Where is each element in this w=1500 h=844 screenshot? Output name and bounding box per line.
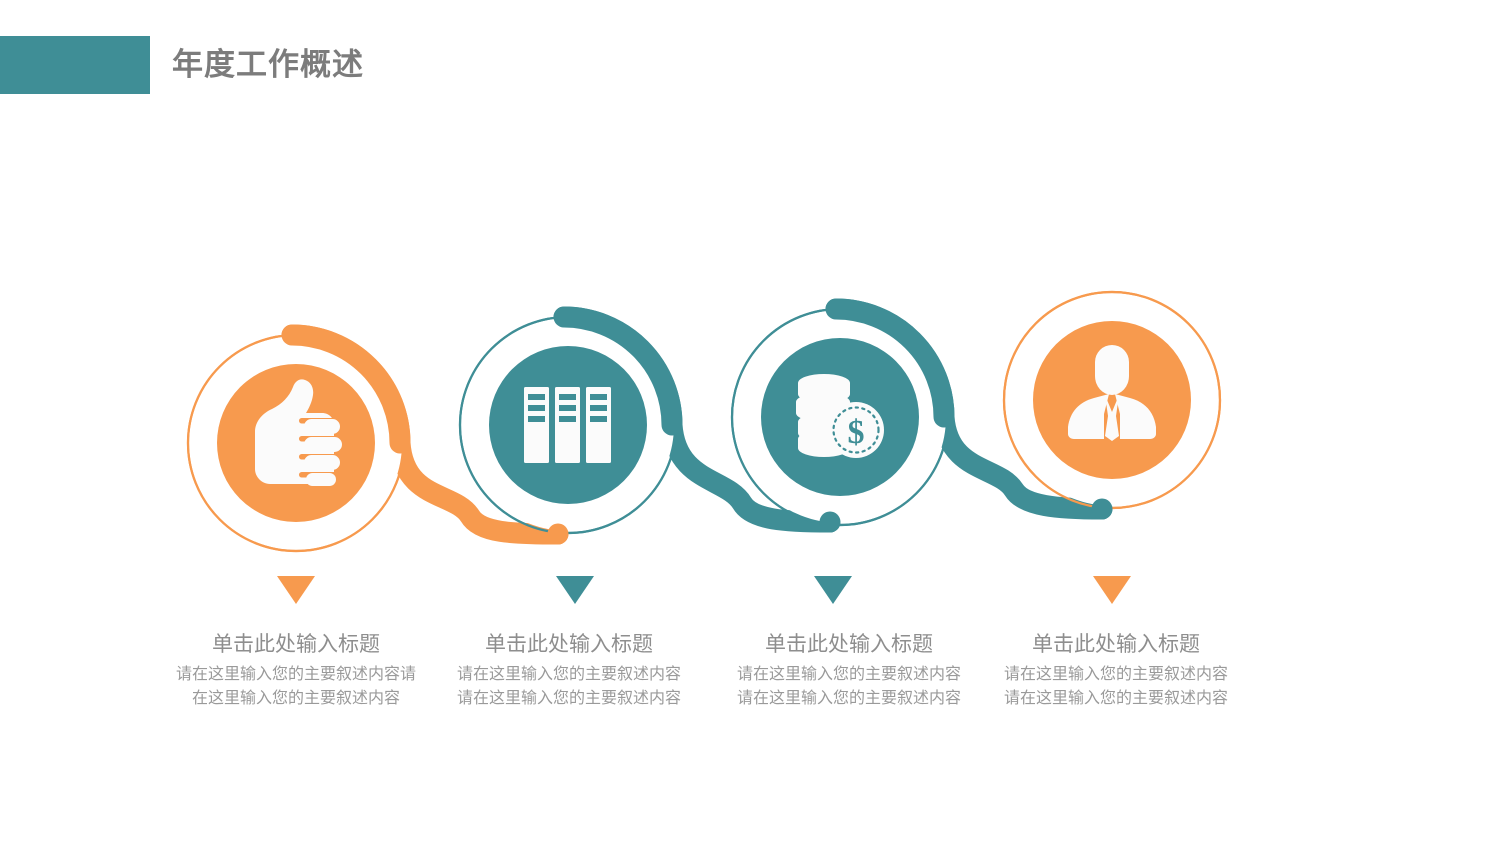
slide-header: 年度工作概述 (0, 36, 1500, 94)
page-title: 年度工作概述 (172, 36, 364, 94)
caption-body-3: 请在这里输入您的主要叙述内容请在这里输入您的主要叙述内容 (735, 663, 963, 711)
outer-ring-2-top (460, 317, 676, 533)
outer-ring-4 (1004, 292, 1220, 508)
connector-ribbon-2-3 (564, 317, 830, 522)
ribbon-endcap-1-2 (548, 524, 569, 545)
ring-gap-2 (475, 332, 661, 518)
step-circle-1[interactable] (217, 364, 375, 522)
caption-title-4: 单击此处输入标题 (1000, 630, 1232, 660)
caption-body-2: 请在这里输入您的主要叙述内容请在这里输入您的主要叙述内容 (455, 663, 683, 711)
step-circle-4[interactable] (1033, 321, 1191, 479)
caption-block-1[interactable]: 单击此处输入标题 请在这里输入您的主要叙述内容请在这里输入您的主要叙述内容 (176, 630, 416, 711)
triangle-down-marker-3 (814, 576, 852, 604)
ribbon-endcap-3-4 (1092, 499, 1113, 520)
header-accent-bar (0, 36, 150, 94)
thumbs-up-icon (255, 379, 342, 486)
connector-ribbon-1-2 (292, 335, 558, 534)
step-circle-2[interactable] (489, 346, 647, 504)
caption-body-1: 请在这里输入您的主要叙述内容请在这里输入您的主要叙述内容 (176, 663, 416, 711)
outer-ring-2 (460, 317, 676, 533)
ring-gap-3 (747, 324, 933, 510)
caption-title-3: 单击此处输入标题 (735, 630, 963, 660)
outer-ring-1 (188, 335, 404, 551)
caption-block-4[interactable]: 单击此处输入标题 请在这里输入您的主要叙述内容请在这里输入您的主要叙述内容 (1000, 630, 1232, 711)
triangle-down-marker-2 (556, 576, 594, 604)
outer-ring-3 (732, 309, 948, 525)
caption-title-1: 单击此处输入标题 (176, 630, 416, 660)
ribbon-endcap-2-3 (820, 512, 841, 533)
svg-text:$: $ (848, 414, 865, 451)
caption-body-4: 请在这里输入您的主要叙述内容请在这里输入您的主要叙述内容 (1000, 663, 1232, 711)
triangle-down-marker-4 (1093, 576, 1131, 604)
caption-title-2: 单击此处输入标题 (455, 630, 683, 660)
businessman-icon (1068, 345, 1156, 441)
ring-gap-1 (203, 350, 389, 536)
ribbon-arc-2 (564, 317, 672, 425)
connector-ribbon-3-4 (836, 309, 1102, 509)
step-circle-3[interactable] (761, 338, 919, 496)
ring-gap-4 (1019, 307, 1205, 493)
outer-ring-1-top (188, 335, 404, 551)
outer-ring-4-top (1004, 292, 1220, 508)
ribbon-arc-1 (292, 335, 400, 443)
caption-block-2[interactable]: 单击此处输入标题 请在这里输入您的主要叙述内容请在这里输入您的主要叙述内容 (455, 630, 683, 711)
book-binders-icon (524, 387, 611, 463)
triangle-down-marker-1 (277, 576, 315, 604)
outer-ring-3-top (732, 309, 948, 525)
caption-block-3[interactable]: 单击此处输入标题 请在这里输入您的主要叙述内容请在这里输入您的主要叙述内容 (735, 630, 963, 711)
coin-stack-dollar-icon: $ (796, 374, 884, 458)
caption-row: 单击此处输入标题 请在这里输入您的主要叙述内容请在这里输入您的主要叙述内容 单击… (0, 630, 1500, 770)
ribbon-arc-3 (836, 309, 944, 417)
